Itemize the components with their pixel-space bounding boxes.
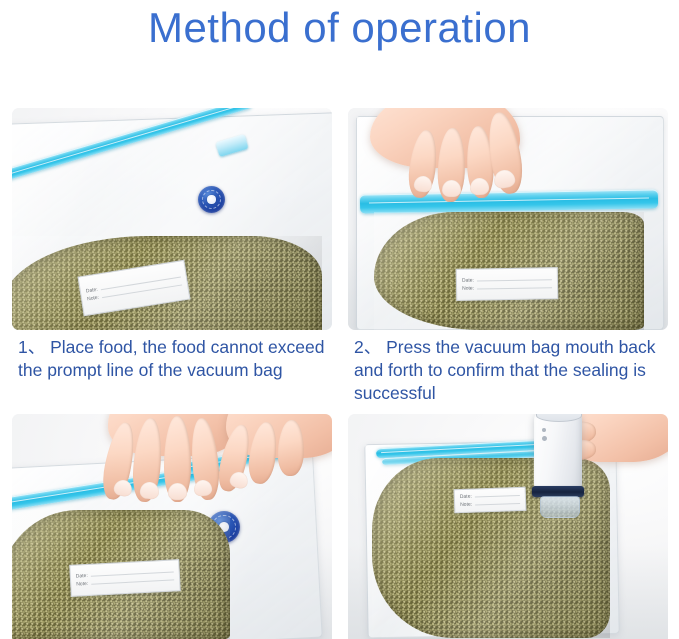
date-note-label: Date: Note: xyxy=(454,487,527,513)
sticker-date-rule xyxy=(475,494,520,497)
vacuum-pump-nozzle xyxy=(540,496,580,518)
sticker-date-row: Date: xyxy=(460,492,520,499)
step-3-photo: Date: Note: xyxy=(12,414,332,639)
fingernail-middle xyxy=(442,180,461,197)
pump-power-button xyxy=(542,436,547,441)
sticker-note-label: Note: xyxy=(462,286,474,291)
step-2-caption: 2、 Press the vacuum bag mouth back and f… xyxy=(354,336,672,405)
sticker-date-rule xyxy=(91,571,174,576)
sticker-date-label: Date: xyxy=(86,287,99,294)
step-4-photo: Date: Note: xyxy=(348,414,668,639)
sticker-note-rule xyxy=(91,579,174,584)
air-valve xyxy=(198,186,225,213)
date-note-label: Date: Note: xyxy=(69,559,181,597)
page-title: Method of operation xyxy=(0,0,679,56)
sticker-date-row: Date: xyxy=(462,277,552,284)
hand-pressing-seal xyxy=(370,108,550,214)
sticker-date-rule xyxy=(477,279,552,281)
sticker-date-label: Date: xyxy=(460,494,472,499)
valve-ticks xyxy=(202,190,221,209)
pump-indicator-light xyxy=(542,428,546,432)
sticker-note-row: Note: xyxy=(462,285,552,292)
fingernail-ring xyxy=(470,178,490,196)
sticker-date-label: Date: xyxy=(462,278,474,283)
sticker-note-label: Note: xyxy=(460,502,472,507)
step-1-photo: Date: Note: xyxy=(12,108,332,330)
sticker-note-label: Note: xyxy=(76,581,88,587)
fingernail-left-3 xyxy=(168,483,187,500)
hand-right-smoothing xyxy=(208,414,332,510)
vacuum-pump-body xyxy=(534,414,582,490)
step-2-photo: Date: Note: xyxy=(348,108,668,330)
step-1-caption: 1、 Place food, the food cannot exceed th… xyxy=(18,336,330,382)
sticker-note-rule xyxy=(475,502,520,505)
infographic-page: Method of operation Date: Not xyxy=(0,0,679,639)
date-note-label: Date: Note: xyxy=(456,267,559,301)
sticker-note-label: Note: xyxy=(87,295,100,302)
sticker-note-row: Note: xyxy=(460,500,520,507)
sticker-date-label: Date: xyxy=(76,573,88,579)
sticker-note-rule xyxy=(477,287,552,289)
sticker-note-row: Note: xyxy=(76,577,174,587)
